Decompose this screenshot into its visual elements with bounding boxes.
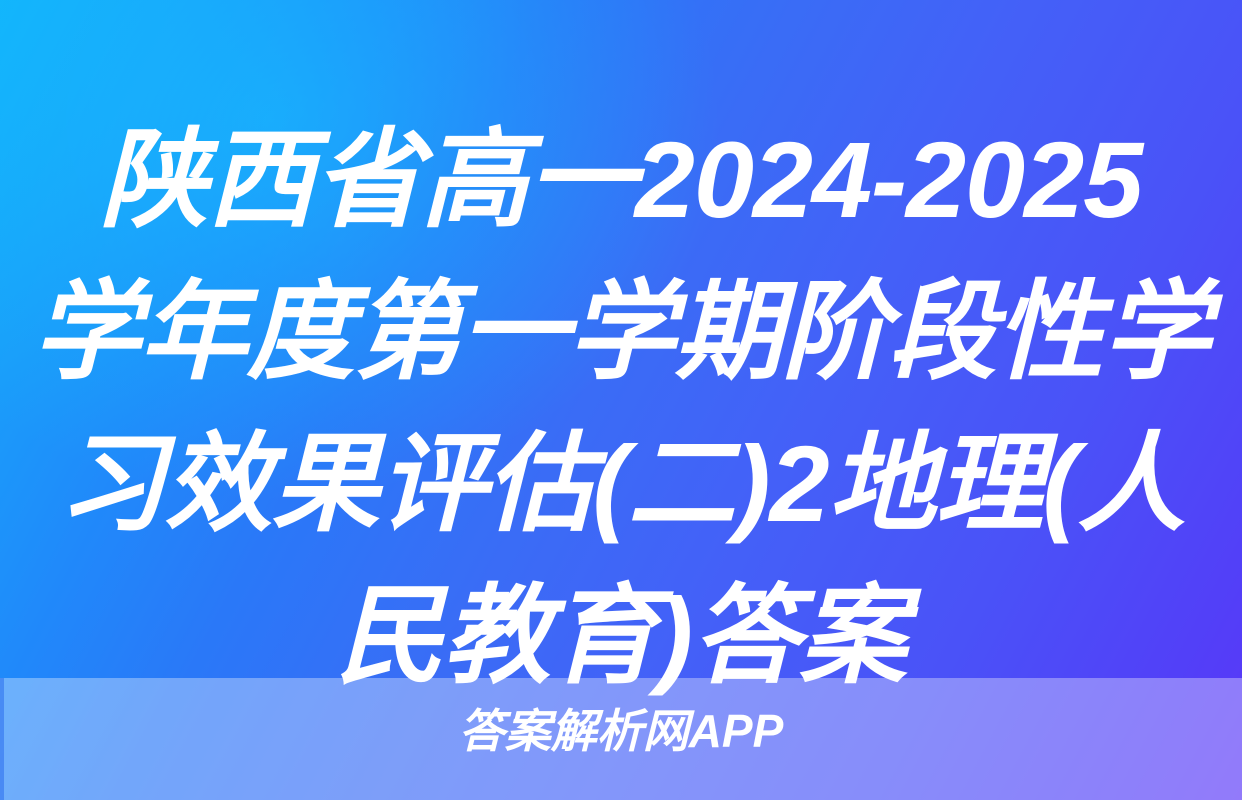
title-line-3: 习效果评估(二)2地理(人 bbox=[0, 408, 1242, 560]
title-line-2: 学年度第一学期阶段性学 bbox=[0, 256, 1242, 408]
title-block: 陕西省高一2024-2025 学年度第一学期阶段性学 习效果评估(二)2地理(人… bbox=[0, 0, 1242, 712]
poster-canvas: 陕西省高一2024-2025 学年度第一学期阶段性学 习效果评估(二)2地理(人… bbox=[0, 0, 1242, 800]
watermark-text: 答案解析网APP bbox=[0, 700, 1242, 762]
title-line-1: 陕西省高一2024-2025 bbox=[0, 104, 1242, 256]
